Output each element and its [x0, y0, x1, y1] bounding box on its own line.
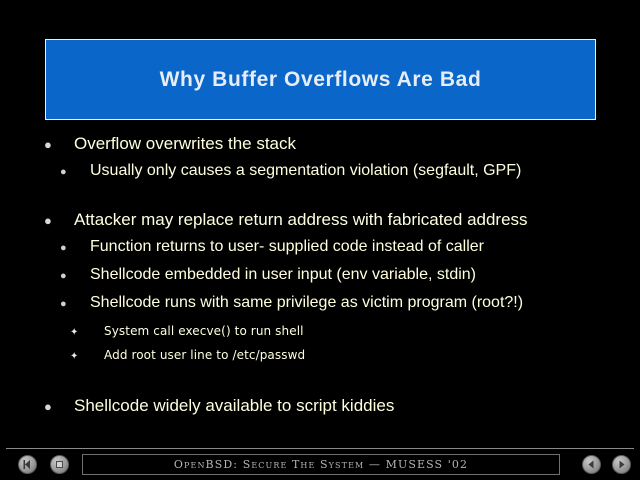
- triangle-left-icon: [586, 459, 597, 470]
- bullet-marker-icon: ✦: [70, 327, 104, 338]
- bullet-item-level-2: ●Function returns to user- supplied code…: [60, 238, 484, 256]
- bullet-marker-icon: ●: [44, 399, 74, 414]
- bullet-item-level-2: ●Usually only causes a segmentation viol…: [60, 162, 521, 180]
- bullet-text: Usually only causes a segmentation viola…: [90, 162, 521, 180]
- slide-footer: OpenBSD: Secure The System — MUSESS '02: [0, 452, 640, 478]
- bullet-item-level-1: ●Attacker may replace return address wit…: [44, 210, 528, 230]
- bullet-text: System call execve() to run shell: [104, 324, 304, 338]
- slide-body: ●Overflow overwrites the stack●Usually o…: [0, 128, 640, 438]
- bullet-item-level-3: ✦Add root user line to /etc/passwd: [70, 348, 305, 362]
- bullet-text: Shellcode widely available to script kid…: [74, 396, 394, 416]
- previous-slide-button[interactable]: [582, 455, 601, 474]
- bullet-marker-icon: ●: [60, 166, 90, 178]
- bullet-text: Function returns to user- supplied code …: [90, 238, 484, 256]
- bullet-text: Add root user line to /etc/passwd: [104, 348, 305, 362]
- triangle-right-icon: [616, 459, 627, 470]
- bullet-marker-icon: ●: [44, 137, 74, 152]
- bullet-marker-icon: ✦: [70, 351, 104, 362]
- footer-separator: [6, 448, 634, 449]
- bullet-marker-icon: ●: [60, 298, 90, 310]
- bullet-marker-icon: ●: [60, 242, 90, 254]
- bullet-item-level-2: ●Shellcode runs with same privilege as v…: [60, 294, 523, 312]
- next-slide-button[interactable]: [612, 455, 631, 474]
- bullet-text: Overflow overwrites the stack: [74, 134, 296, 154]
- bullet-item-level-1: ●Shellcode widely available to script ki…: [44, 396, 394, 416]
- slide-title: Why Buffer Overflows Are Bad: [160, 68, 482, 91]
- bullet-text: Attacker may replace return address with…: [74, 210, 528, 230]
- first-slide-icon: [22, 459, 33, 470]
- bullet-text: Shellcode embedded in user input (env va…: [90, 266, 476, 284]
- footer-caption: OpenBSD: Secure The System — MUSESS '02: [174, 458, 468, 471]
- bullet-item-level-3: ✦System call execve() to run shell: [70, 324, 304, 338]
- footer-caption-box: OpenBSD: Secure The System — MUSESS '02: [82, 454, 560, 475]
- stop-button[interactable]: [50, 455, 69, 474]
- slide-title-banner: Why Buffer Overflows Are Bad: [45, 39, 596, 120]
- first-slide-button[interactable]: [18, 455, 37, 474]
- bullet-text: Shellcode runs with same privilege as vi…: [90, 294, 523, 312]
- bullet-marker-icon: ●: [44, 213, 74, 228]
- bullet-marker-icon: ●: [60, 270, 90, 282]
- bullet-item-level-1: ●Overflow overwrites the stack: [44, 134, 296, 154]
- stop-square-icon: [54, 459, 65, 470]
- bullet-item-level-2: ●Shellcode embedded in user input (env v…: [60, 266, 476, 284]
- presentation-slide: Why Buffer Overflows Are Bad ●Overflow o…: [0, 0, 640, 480]
